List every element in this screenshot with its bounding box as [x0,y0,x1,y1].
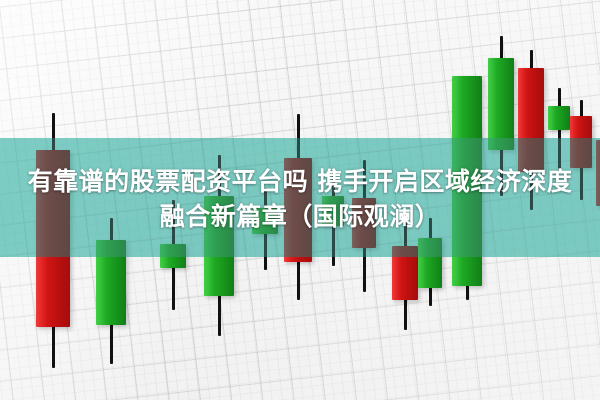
headline: 有靠谱的股票配资平台吗 携手开启区域经济深度 融合新篇章（国际观澜） [0,162,600,236]
thumbnail-canvas: 有靠谱的股票配资平台吗 携手开启区域经济深度 融合新篇章（国际观澜） [0,0,600,400]
headline-line-1: 有靠谱的股票配资平台吗 携手开启区域经济深度 [28,166,573,198]
candle-body-up [488,58,514,150]
headline-line-2: 融合新篇章（国际观澜） [160,201,441,233]
candle-body-up [548,106,570,130]
